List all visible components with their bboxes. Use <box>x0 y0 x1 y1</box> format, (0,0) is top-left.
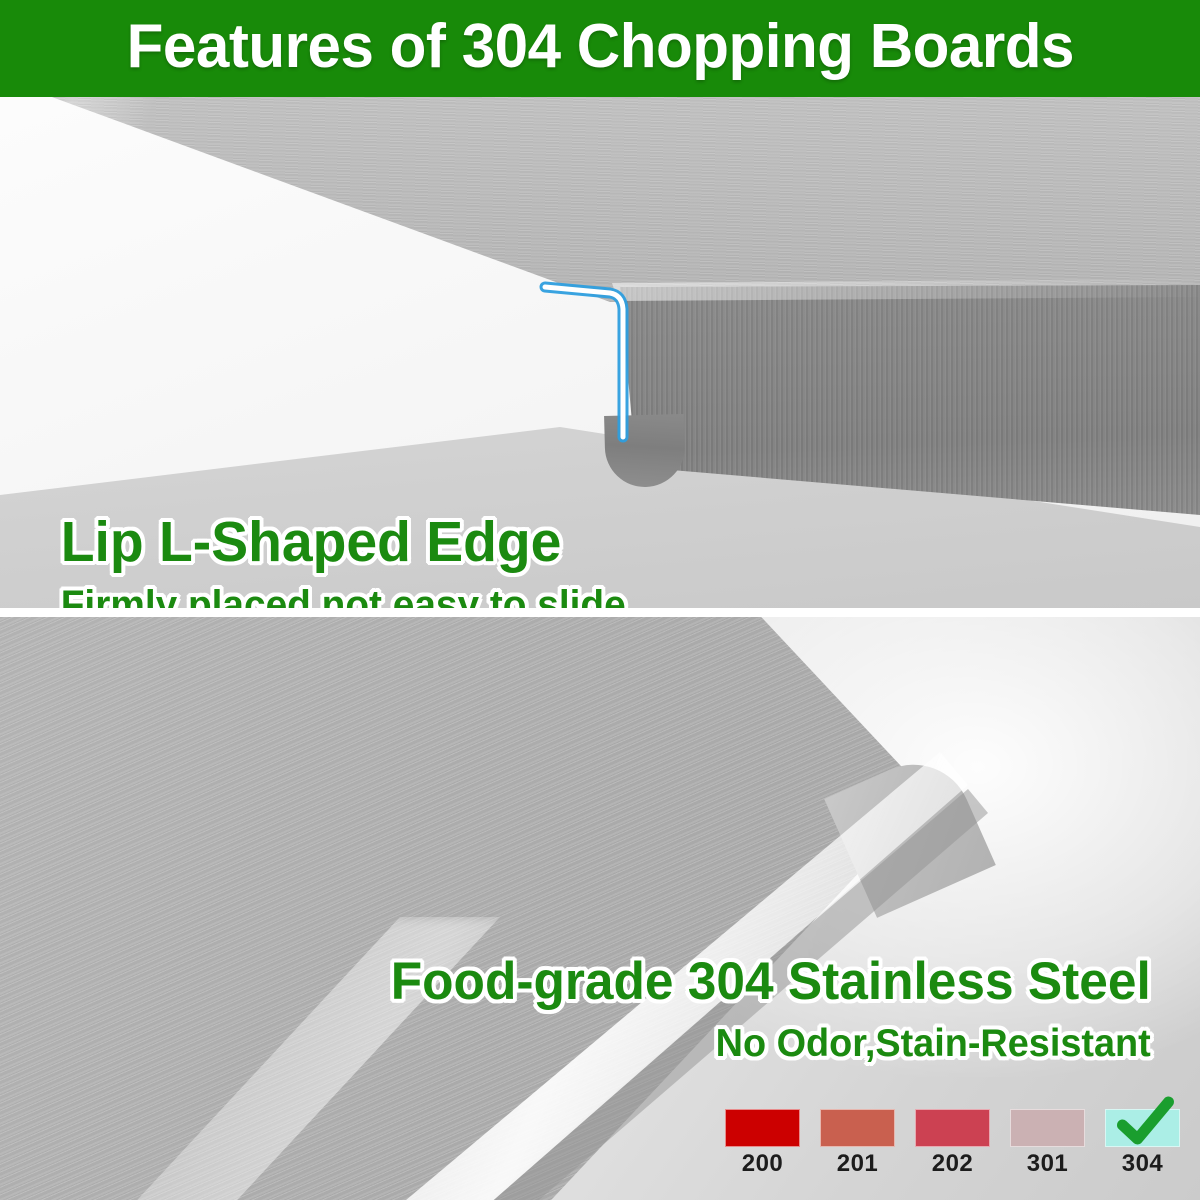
swatch-cell-201[interactable]: 201 <box>820 1109 895 1176</box>
page-title: Features of 304 Chopping Boards <box>126 16 1073 82</box>
swatch-cell-304[interactable]: 304 <box>1105 1109 1180 1176</box>
swatch-chip-301[interactable] <box>1010 1109 1085 1147</box>
swatch-cell-301[interactable]: 301 <box>1010 1109 1085 1176</box>
swatch-label-304: 304 <box>1122 1152 1164 1176</box>
swatch-cell-200[interactable]: 200 <box>725 1109 800 1176</box>
swatch-chip-304[interactable] <box>1105 1109 1180 1147</box>
header-banner: Features of 304 Chopping Boards <box>0 0 1200 97</box>
swatch-chip-202[interactable] <box>915 1109 990 1147</box>
panel-lip-l-shaped-edge: Lip L-Shaped Edge Firmly placed,not easy… <box>0 97 1200 608</box>
caption-heading: Food-grade 304 Stainless Steel <box>390 955 1150 1009</box>
caption-subheading: Firmly placed,not easy to slide <box>61 585 626 608</box>
swatch-label-200: 200 <box>742 1152 784 1176</box>
swatch-label-201: 201 <box>837 1152 879 1176</box>
swatch-chip-201[interactable] <box>820 1109 895 1147</box>
steel-grade-swatch-row: 200201202301304 <box>725 1109 1180 1176</box>
caption-subheading: No Odor,Stain-Resistant <box>390 1024 1150 1064</box>
swatch-label-202: 202 <box>932 1152 974 1176</box>
infographic-page: Features of 304 Chopping Boards Lip L-Sh… <box>0 0 1200 1200</box>
caption-heading: Lip L-Shaped Edge <box>61 513 626 571</box>
swatch-cell-202[interactable]: 202 <box>915 1109 990 1176</box>
panel-food-grade-304: Food-grade 304 Stainless Steel No Odor,S… <box>0 617 1200 1200</box>
swatch-label-301: 301 <box>1027 1152 1069 1176</box>
caption-food-grade-304: Food-grade 304 Stainless Steel No Odor,S… <box>379 955 1162 1064</box>
caption-lip-l-shaped-edge: Lip L-Shaped Edge Firmly placed,not easy… <box>52 513 634 608</box>
swatch-chip-200[interactable] <box>725 1109 800 1147</box>
